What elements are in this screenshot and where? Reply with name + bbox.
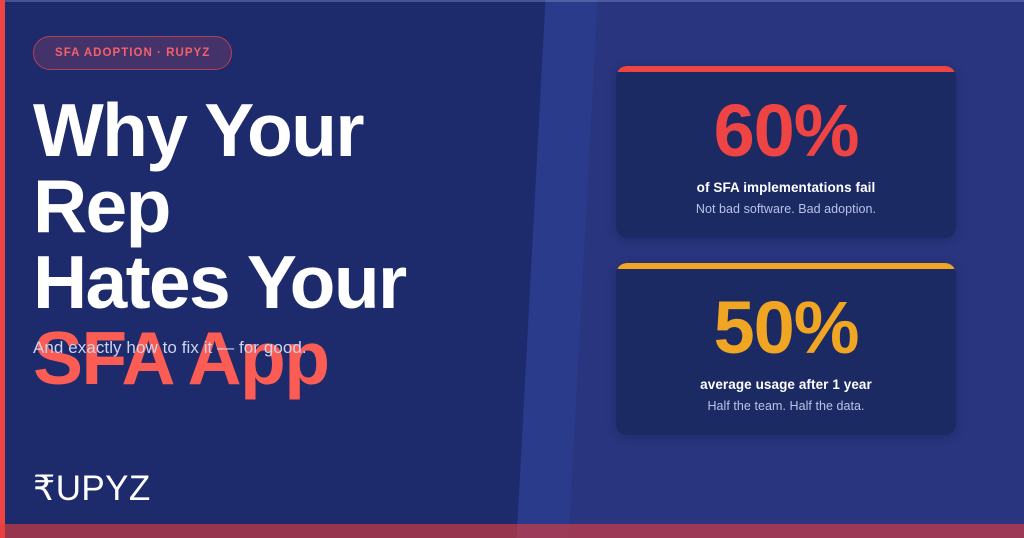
headline-line-2: Hates Your (33, 240, 406, 324)
headline-line-1: Why Your Rep (33, 88, 363, 248)
stat-card-body: 50% average usage after 1 year Half the … (616, 263, 956, 435)
rupyz-logo: ₹ UPYZ (33, 471, 151, 506)
hero-content: SFA ADOPTION · RUPYZ Why Your Rep Hates … (33, 0, 513, 538)
stat-card-body: 60% of SFA implementations fail Not bad … (616, 66, 956, 238)
logo-wordmark: UPYZ (56, 471, 151, 506)
stat-label: of SFA implementations fail (697, 180, 876, 195)
subtitle: And exactly how to fix it — for good. (33, 336, 307, 360)
stat-value: 50% (714, 289, 859, 367)
category-badge: SFA ADOPTION · RUPYZ (33, 36, 232, 70)
stat-caption: Half the team. Half the data. (707, 399, 864, 413)
stat-label: average usage after 1 year (700, 377, 872, 392)
bottom-accent-bar (0, 524, 1024, 538)
left-edge-accent-stripe (0, 0, 5, 538)
stat-card: 60% of SFA implementations fail Not bad … (616, 66, 956, 238)
stat-value: 60% (714, 92, 859, 170)
stat-caption: Not bad software. Bad adoption. (696, 202, 876, 216)
slide-canvas: SFA ADOPTION · RUPYZ Why Your Rep Hates … (0, 0, 1024, 538)
rupee-icon: ₹ (33, 471, 56, 506)
stat-card: 50% average usage after 1 year Half the … (616, 263, 956, 435)
